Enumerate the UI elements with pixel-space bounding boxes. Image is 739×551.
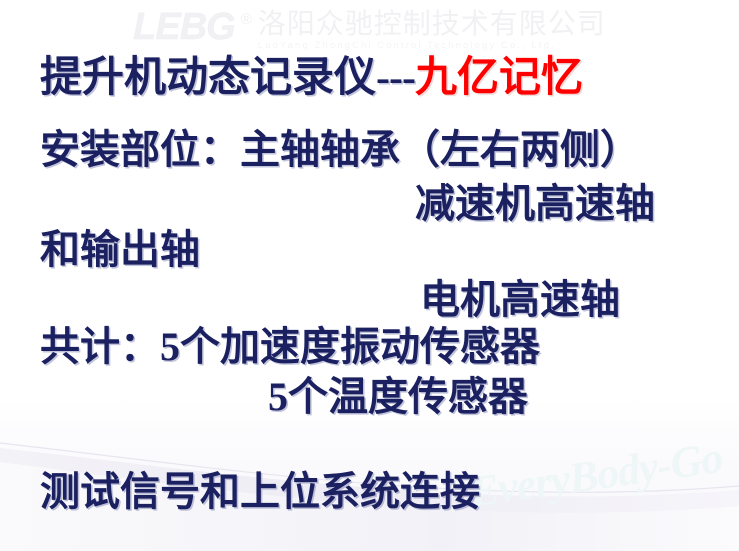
body-line-reducer-high-speed-shaft: 减速机高速轴 <box>415 182 655 226</box>
body-line-total-vibration-sensors: 共计：5个加速度振动传感器 <box>40 325 540 369</box>
body-line-temperature-sensors: 5个温度传感器 <box>268 375 528 419</box>
body-line-output-shaft: 和输出轴 <box>40 228 200 272</box>
slide-title-main: 提升机动态记录仪 <box>40 55 376 101</box>
slide-title-highlight: 九亿记忆 <box>415 55 583 101</box>
slide-content: 提升机动态记录仪---九亿记忆 安装部位：主轴轴承（左右两侧） 减速机高速轴 和… <box>0 0 739 551</box>
body-line-signal-connection: 测试信号和上位系统连接 <box>40 470 480 514</box>
body-line-motor-high-speed-shaft: 电机高速轴 <box>420 278 620 322</box>
body-line-install-location: 安装部位：主轴轴承（左右两侧） <box>40 128 640 172</box>
slide-title-separator: --- <box>376 55 415 101</box>
slide-canvas: LEBG ® 洛阳众驰控制技术有限公司 LuoYang ZhongChi Con… <box>0 0 739 551</box>
slide-title: 提升机动态记录仪---九亿记忆 <box>40 55 583 101</box>
